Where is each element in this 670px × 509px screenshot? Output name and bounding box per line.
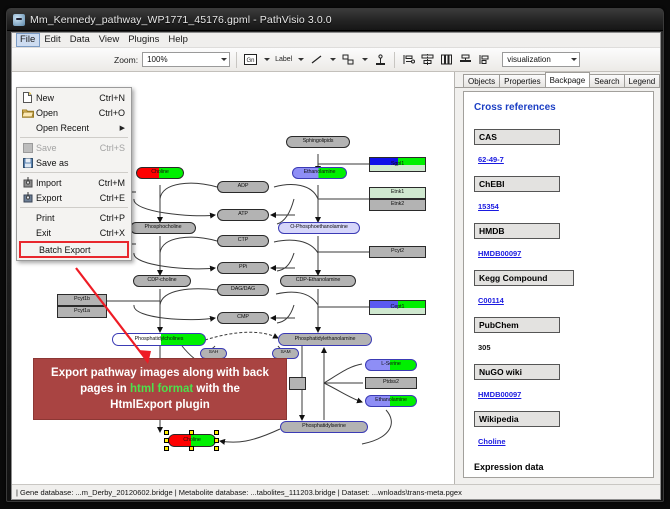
xref-label-hmdb: HMDB bbox=[474, 223, 560, 239]
node-cdp-ethanolamine[interactable]: CDP-Ethanolamine bbox=[280, 275, 356, 287]
side-panel: Objects Properties Backpage Search Legen… bbox=[455, 72, 660, 484]
node-ctp[interactable]: CTP bbox=[217, 235, 269, 247]
backpage-content: Cross references CAS 62-49-7 ChEBI 15354… bbox=[463, 91, 654, 478]
application-window: Mm_Kennedy_pathway_WP1771_45176.gpml - P… bbox=[6, 8, 664, 502]
menu-item-open[interactable]: Open Ctrl+O bbox=[17, 105, 131, 120]
save-as-icon bbox=[19, 158, 36, 168]
node-dag[interactable]: DAG/DAG bbox=[217, 284, 269, 296]
align-center-tool-icon[interactable] bbox=[420, 52, 435, 67]
node-o-phosphoethanolamine[interactable]: O-Phosphoethanolamine bbox=[278, 222, 360, 234]
node-ptdss2[interactable]: Ptdss2 bbox=[365, 377, 417, 389]
menu-item-batch-export[interactable]: Batch Export bbox=[19, 241, 129, 258]
node-ethanolamine-right[interactable]: Ethanolamine bbox=[365, 395, 417, 407]
node-choline-top[interactable]: Choline bbox=[136, 167, 184, 179]
datanode-dropdown-icon[interactable] bbox=[262, 52, 271, 67]
open-folder-icon bbox=[19, 108, 36, 118]
menu-view[interactable]: View bbox=[95, 33, 124, 47]
xref-value-hmdb[interactable]: HMDB00097 bbox=[478, 249, 521, 258]
xref-value-cas[interactable]: 62-49-7 bbox=[478, 155, 504, 164]
selection-handle[interactable] bbox=[214, 438, 219, 443]
pathway-canvas[interactable]: Sphingolipids Choline Ethanolamine ADP bbox=[12, 72, 454, 484]
menu-help[interactable]: Help bbox=[164, 33, 193, 47]
menu-item-exit[interactable]: Exit Ctrl+X bbox=[17, 225, 131, 240]
align-left-tool-icon[interactable] bbox=[401, 52, 416, 67]
datanode-tool-icon[interactable]: Gn bbox=[243, 52, 258, 67]
main-toolbar: Zoom: 100% Gn Label bbox=[12, 48, 660, 72]
pathway-canvas-panel[interactable]: Sphingolipids Choline Ethanolamine ADP bbox=[12, 72, 455, 484]
node-phosphocholine[interactable]: Phosphocholine bbox=[130, 222, 196, 234]
menu-item-import[interactable]: Import Ctrl+M bbox=[17, 175, 131, 190]
tab-legend[interactable]: Legend bbox=[624, 74, 661, 87]
banner-line-2b: with the bbox=[193, 383, 240, 395]
xref-label-nugo: NuGO wiki bbox=[474, 364, 560, 380]
node-cmp[interactable]: CMP bbox=[217, 312, 269, 324]
xref-label-chebi: ChEBI bbox=[474, 176, 560, 192]
anchor-tool-icon[interactable] bbox=[373, 52, 388, 67]
main-content: Sphingolipids Choline Ethanolamine ADP bbox=[12, 72, 660, 484]
menu-divider-3 bbox=[20, 207, 128, 208]
new-file-icon bbox=[19, 92, 36, 103]
menu-item-open-recent[interactable]: Open Recent ▶ bbox=[17, 120, 131, 135]
node-phosphatidylcholines[interactable]: Phosphatidylcholines bbox=[112, 333, 206, 346]
stack-tool-icon[interactable] bbox=[458, 52, 473, 67]
xref-label-kegg: Kegg Compound bbox=[474, 270, 574, 286]
menu-divider bbox=[20, 137, 128, 138]
window-titlebar: Mm_Kennedy_pathway_WP1771_45176.gpml - P… bbox=[7, 9, 663, 31]
xref-label-wikipedia: Wikipedia bbox=[474, 411, 560, 427]
label-dropdown-icon[interactable] bbox=[296, 52, 305, 67]
node-sgpl1[interactable]: Sgpl1 bbox=[369, 157, 426, 172]
node-pcyt2[interactable]: Pcyt2 bbox=[369, 246, 426, 258]
banner-line-2a: pages in bbox=[80, 383, 130, 395]
toolbar-separator-2 bbox=[394, 52, 395, 68]
import-icon bbox=[19, 177, 36, 188]
selection-handle[interactable] bbox=[164, 430, 169, 435]
menu-item-save-as[interactable]: Save as bbox=[17, 155, 131, 170]
xref-label-cas: CAS bbox=[474, 129, 560, 145]
tab-search[interactable]: Search bbox=[589, 74, 624, 87]
menu-file[interactable]: File bbox=[16, 33, 40, 47]
node-phosphatidylethanolamine[interactable]: Phosphatidylethanolamine bbox=[278, 333, 372, 346]
status-bar: | Gene database: ...m_Derby_20120602.bri… bbox=[12, 484, 660, 499]
selection-handle[interactable] bbox=[214, 446, 219, 451]
menu-item-export[interactable]: Export Ctrl+E bbox=[17, 190, 131, 205]
xref-value-chebi[interactable]: 15354 bbox=[478, 202, 499, 211]
xref-value-kegg[interactable]: C00114 bbox=[478, 296, 504, 305]
xref-label-pubchem: PubChem bbox=[474, 317, 560, 333]
tab-objects[interactable]: Objects bbox=[463, 74, 500, 87]
xref-value-pubchem: 305 bbox=[478, 343, 491, 352]
menu-bar: File Edit Data View Plugins Help bbox=[12, 33, 660, 48]
visualization-value: visualization bbox=[507, 55, 551, 64]
svg-text:Gn: Gn bbox=[247, 58, 255, 64]
node-cdp-choline[interactable]: CDP-choline bbox=[133, 275, 191, 287]
node-ethanolamine-top[interactable]: Ethanolamine bbox=[292, 167, 347, 179]
interaction-tool-icon[interactable] bbox=[341, 52, 356, 67]
menu-item-new[interactable]: New Ctrl+N bbox=[17, 90, 131, 105]
banner-line-2: pages in html format with the bbox=[80, 381, 240, 397]
selection-handle[interactable] bbox=[164, 446, 169, 451]
save-icon bbox=[19, 143, 36, 153]
node-pcyt1b[interactable]: Pcyt1b bbox=[57, 294, 107, 306]
tab-backpage[interactable]: Backpage bbox=[545, 72, 591, 87]
menu-data[interactable]: Data bbox=[66, 33, 95, 47]
node-l-serine[interactable]: L-Serine bbox=[365, 359, 417, 371]
node-adp[interactable]: ADP bbox=[217, 181, 269, 193]
chevron-down-icon bbox=[221, 58, 227, 61]
menu-edit[interactable]: Edit bbox=[40, 33, 65, 47]
line-dropdown-icon[interactable] bbox=[328, 52, 337, 67]
annotation-banner: Export pathway images along with back pa… bbox=[33, 358, 287, 420]
selection-handle[interactable] bbox=[189, 446, 194, 451]
export-icon bbox=[19, 192, 36, 203]
zoom-combo[interactable]: 100% bbox=[142, 52, 230, 67]
chevron-down-icon-vis bbox=[571, 58, 577, 61]
selection-handle[interactable] bbox=[214, 430, 219, 435]
pathway-anchor-block bbox=[289, 377, 306, 390]
banner-highlight: html format bbox=[130, 383, 193, 395]
toolbar-separator bbox=[236, 52, 237, 68]
align-width-tool-icon[interactable] bbox=[439, 52, 454, 67]
expression-data-heading: Expression data bbox=[474, 462, 643, 472]
node-choline-selected[interactable]: Choline bbox=[168, 434, 216, 447]
node-etnk1[interactable]: Etnk1 bbox=[369, 187, 426, 199]
application-frame: File Edit Data View Plugins Help Zoom: 1… bbox=[11, 32, 661, 500]
window-title: Mm_Kennedy_pathway_WP1771_45176.gpml - P… bbox=[30, 14, 332, 26]
zoom-label: Zoom: bbox=[114, 55, 138, 65]
menu-divider-2 bbox=[20, 172, 128, 173]
node-pcyt1a[interactable]: Pcyt1a bbox=[57, 306, 107, 318]
submenu-arrow-icon: ▶ bbox=[120, 124, 131, 132]
zoom-value: 100% bbox=[147, 55, 167, 64]
menu-plugins[interactable]: Plugins bbox=[124, 33, 164, 47]
node-atp[interactable]: ATP bbox=[217, 209, 269, 221]
pathvisio-app-icon bbox=[13, 14, 25, 26]
screenshot-root: Mm_Kennedy_pathway_WP1771_45176.gpml - P… bbox=[0, 0, 670, 509]
file-menu-popup[interactable]: New Ctrl+N Open Ctrl+O bbox=[16, 87, 132, 261]
visualization-combo[interactable]: visualization bbox=[502, 52, 580, 67]
node-sphingolipids[interactable]: Sphingolipids bbox=[286, 136, 350, 148]
menu-item-save[interactable]: Save Ctrl+S bbox=[17, 140, 131, 155]
selection-handle[interactable] bbox=[189, 430, 194, 435]
selection-handle[interactable] bbox=[164, 438, 169, 443]
node-cept1[interactable]: Cept1 bbox=[369, 300, 426, 315]
banner-line-3: HtmlExport plugin bbox=[110, 397, 210, 413]
status-text: | Gene database: ...m_Derby_20120602.bri… bbox=[16, 488, 462, 497]
order-tool-icon[interactable] bbox=[477, 52, 492, 67]
tab-properties[interactable]: Properties bbox=[499, 74, 545, 87]
label-tool-label[interactable]: Label bbox=[275, 56, 292, 63]
xref-value-wikipedia[interactable]: Choline bbox=[478, 437, 506, 446]
banner-line-1: Export pathway images along with back bbox=[51, 365, 269, 381]
node-ppi[interactable]: PPi bbox=[217, 262, 269, 274]
node-phosphatidylserine[interactable]: Phosphatidylserine bbox=[280, 421, 368, 433]
menu-item-print[interactable]: Print Ctrl+P bbox=[17, 210, 131, 225]
xref-value-nugo[interactable]: HMDB00097 bbox=[478, 390, 521, 399]
node-etnk2[interactable]: Etnk2 bbox=[369, 199, 426, 211]
cross-references-heading: Cross references bbox=[474, 102, 643, 113]
line-tool-icon[interactable] bbox=[309, 52, 324, 67]
interaction-dropdown-icon[interactable] bbox=[360, 52, 369, 67]
side-panel-tabs: Objects Properties Backpage Search Legen… bbox=[455, 72, 660, 88]
